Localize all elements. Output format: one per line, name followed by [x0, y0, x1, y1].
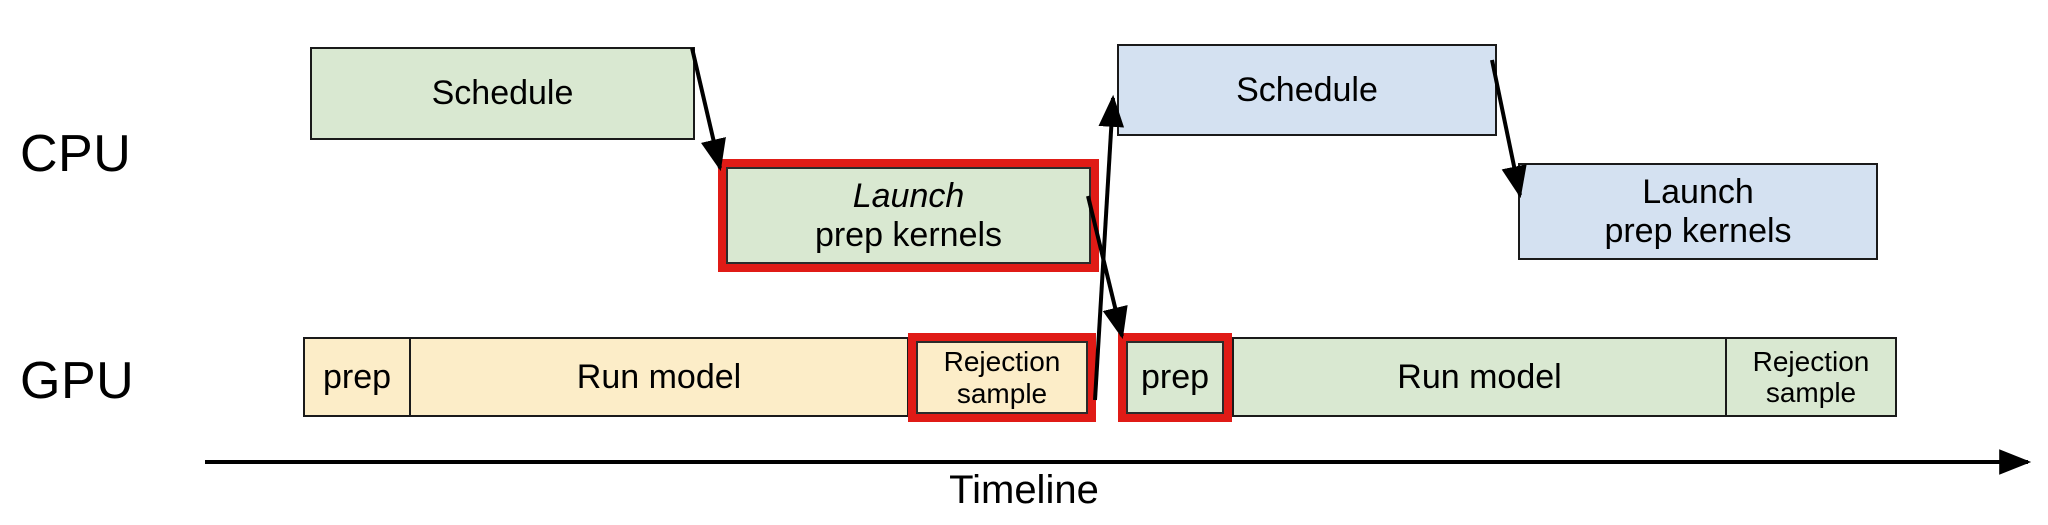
gpu-block-prep-1[interactable]: prep [303, 337, 411, 417]
arrow-schedule1-to-launch1 [692, 48, 720, 168]
cpu-block-schedule-2-label: Schedule [1119, 71, 1495, 109]
cpu-block-launch-1-line1: Launch [732, 177, 1085, 215]
gpu-block-rejection-sample-1[interactable]: Rejection sample [916, 341, 1088, 414]
gpu-block-rejection-sample-2[interactable]: Rejection sample [1725, 337, 1897, 417]
gpu-block-run-model-2[interactable]: Run model [1232, 337, 1727, 417]
gpu-block-rejection-sample-1-line1: Rejection [922, 346, 1082, 377]
gpu-block-prep-2[interactable]: prep [1126, 341, 1224, 414]
arrow-gpu-to-schedule2 [1095, 98, 1113, 400]
cpu-block-schedule-1[interactable]: Schedule [310, 47, 695, 140]
row-label-gpu: GPU [20, 355, 134, 407]
gpu-block-prep-1-label: prep [305, 358, 409, 396]
gpu-block-prep-2-label: prep [1128, 358, 1222, 396]
gpu-block-rejection-sample-2-line1: Rejection [1731, 346, 1891, 377]
gpu-block-rejection-sample-2-line2: sample [1731, 377, 1891, 408]
timeline-axis-label: Timeline [0, 468, 2048, 513]
cpu-block-launch-2[interactable]: Launch prep kernels [1518, 163, 1878, 260]
gpu-block-run-model-2-label: Run model [1234, 358, 1725, 396]
gpu-block-rejection-sample-1-text: Rejection sample [918, 346, 1086, 409]
diagram-canvas: CPU GPU Schedule Launch prep kernels Sch… [0, 0, 2048, 525]
gpu-block-run-model-1-label: Run model [411, 358, 907, 396]
arrow-launch1-to-gpu-prep2 [1088, 196, 1122, 336]
row-label-cpu: CPU [20, 128, 131, 180]
cpu-block-schedule-1-label: Schedule [312, 74, 693, 112]
gpu-block-rejection-sample-2-text: Rejection sample [1727, 346, 1895, 409]
gpu-block-run-model-1[interactable]: Run model [409, 337, 909, 417]
cpu-block-schedule-2[interactable]: Schedule [1117, 44, 1497, 136]
cpu-block-launch-1[interactable]: Launch prep kernels [726, 167, 1091, 264]
gpu-block-rejection-sample-1-line2: sample [922, 378, 1082, 409]
cpu-block-launch-1-line2: prep kernels [732, 216, 1085, 254]
cpu-block-launch-1-text: Launch prep kernels [728, 177, 1089, 253]
cpu-block-launch-2-text: Launch prep kernels [1520, 173, 1876, 249]
cpu-block-launch-2-line1: Launch [1524, 173, 1872, 211]
cpu-block-launch-2-line2: prep kernels [1524, 212, 1872, 250]
